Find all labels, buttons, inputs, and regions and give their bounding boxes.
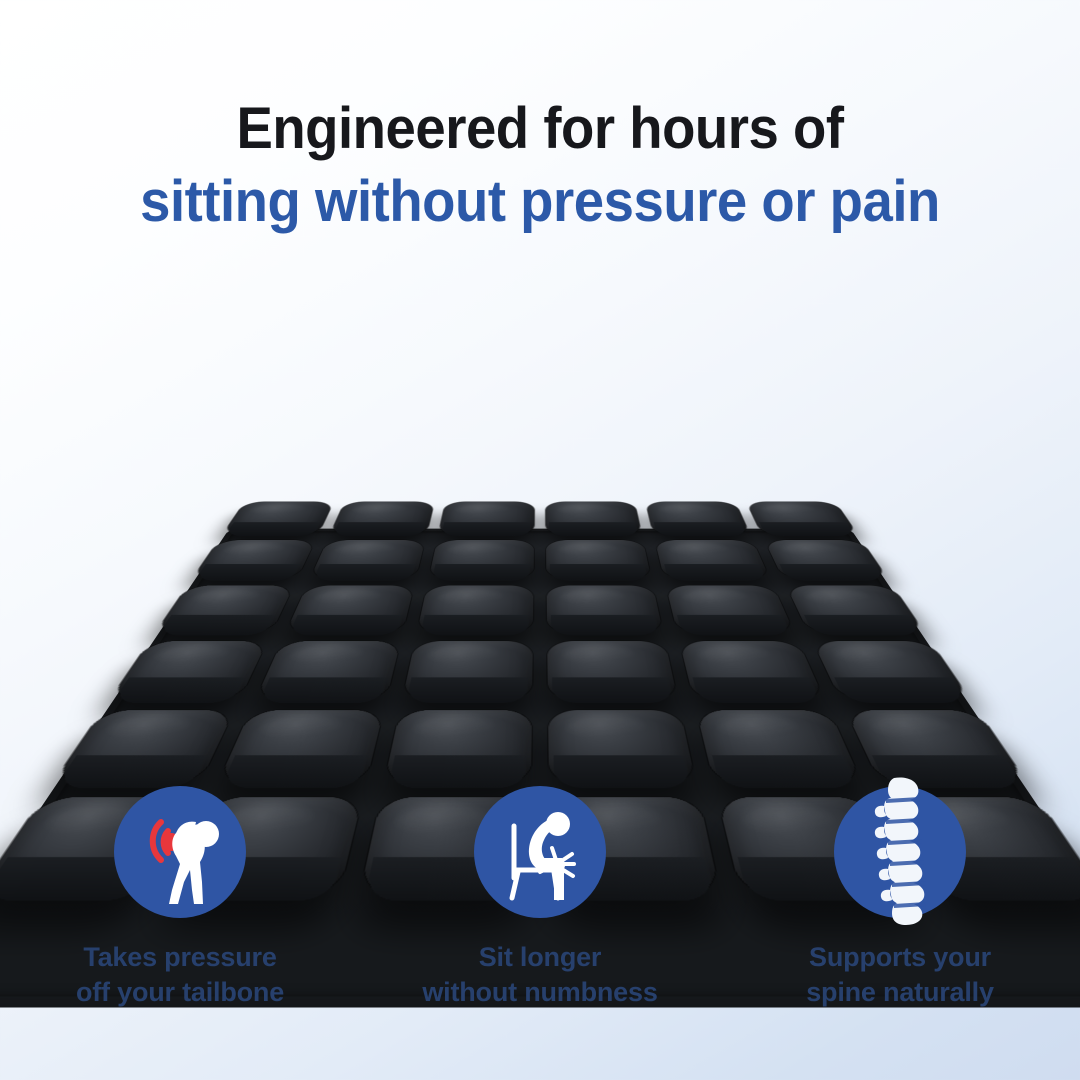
cushion-cell-skirt: [221, 756, 367, 789]
feature-caption-2-line-1: Sit longer: [422, 940, 657, 975]
cushion-cell: [330, 502, 434, 535]
cushion-cell: [545, 502, 642, 535]
feature-row: Takes pressure off your tailbone: [0, 786, 1080, 1009]
cushion-cell: [109, 641, 267, 700]
headline-line-2: sitting without pressure or pain: [32, 171, 1047, 232]
cushion-cell: [438, 502, 535, 535]
cushion-cell: [812, 641, 970, 700]
cushion-cell: [646, 502, 750, 535]
cushion-cell: [52, 710, 235, 785]
feature-caption-3-line-2: spine naturally: [806, 975, 994, 1010]
cushion-cell: [402, 641, 533, 700]
feature-takes-pressure-off-tailbone: Takes pressure off your tailbone: [0, 786, 360, 1009]
feature-caption-1: Takes pressure off your tailbone: [76, 940, 284, 1009]
feature-caption-2-line-2: without numbness: [422, 975, 657, 1010]
feature-sit-longer-without-numbness: Sit longer without numbness: [360, 786, 720, 1009]
cushion-cell-skirt: [406, 677, 528, 703]
cushion-cell: [222, 502, 334, 535]
cushion-cell: [383, 710, 532, 785]
feature-caption-3-line-1: Supports your: [806, 940, 994, 975]
cushion-cell-skirt: [834, 677, 968, 703]
back-pain-person-icon: [114, 786, 246, 918]
spine-icon: [834, 776, 966, 928]
cushion-cell-skirt: [54, 756, 208, 789]
seated-person-numbness-icon: [474, 786, 606, 918]
feature-supports-spine-naturally: Supports your spine naturally: [720, 786, 1080, 1009]
feature-badge-3: [834, 786, 966, 918]
page-title: Engineered for hours of sitting without …: [0, 98, 1080, 233]
headline-line-1: Engineered for hours of: [32, 98, 1047, 159]
cushion-cell: [696, 710, 862, 785]
feature-caption-3: Supports your spine naturally: [806, 940, 994, 1009]
cushion-cell: [217, 710, 383, 785]
cushion-cell-skirt: [552, 677, 674, 703]
cushion-cell-skirt: [554, 756, 693, 789]
cushion-cell: [548, 710, 697, 785]
feature-caption-2: Sit longer without numbness: [422, 940, 657, 1009]
cushion-cell: [746, 502, 858, 535]
cushion-cell: [547, 641, 678, 700]
feature-badge-1: [114, 786, 246, 918]
feature-caption-1-line-2: off your tailbone: [76, 975, 284, 1010]
cushion-cell: [845, 710, 1028, 785]
cushion-cell-skirt: [388, 756, 527, 789]
feature-caption-1-line-1: Takes pressure: [76, 940, 284, 975]
cushion-cell-skirt: [259, 677, 387, 703]
cushion-cell-skirt: [112, 677, 246, 703]
feature-badge-2: [474, 786, 606, 918]
product-scene: [0, 330, 1080, 730]
product-image: [0, 330, 1080, 730]
cushion-cell-skirt: [693, 677, 821, 703]
